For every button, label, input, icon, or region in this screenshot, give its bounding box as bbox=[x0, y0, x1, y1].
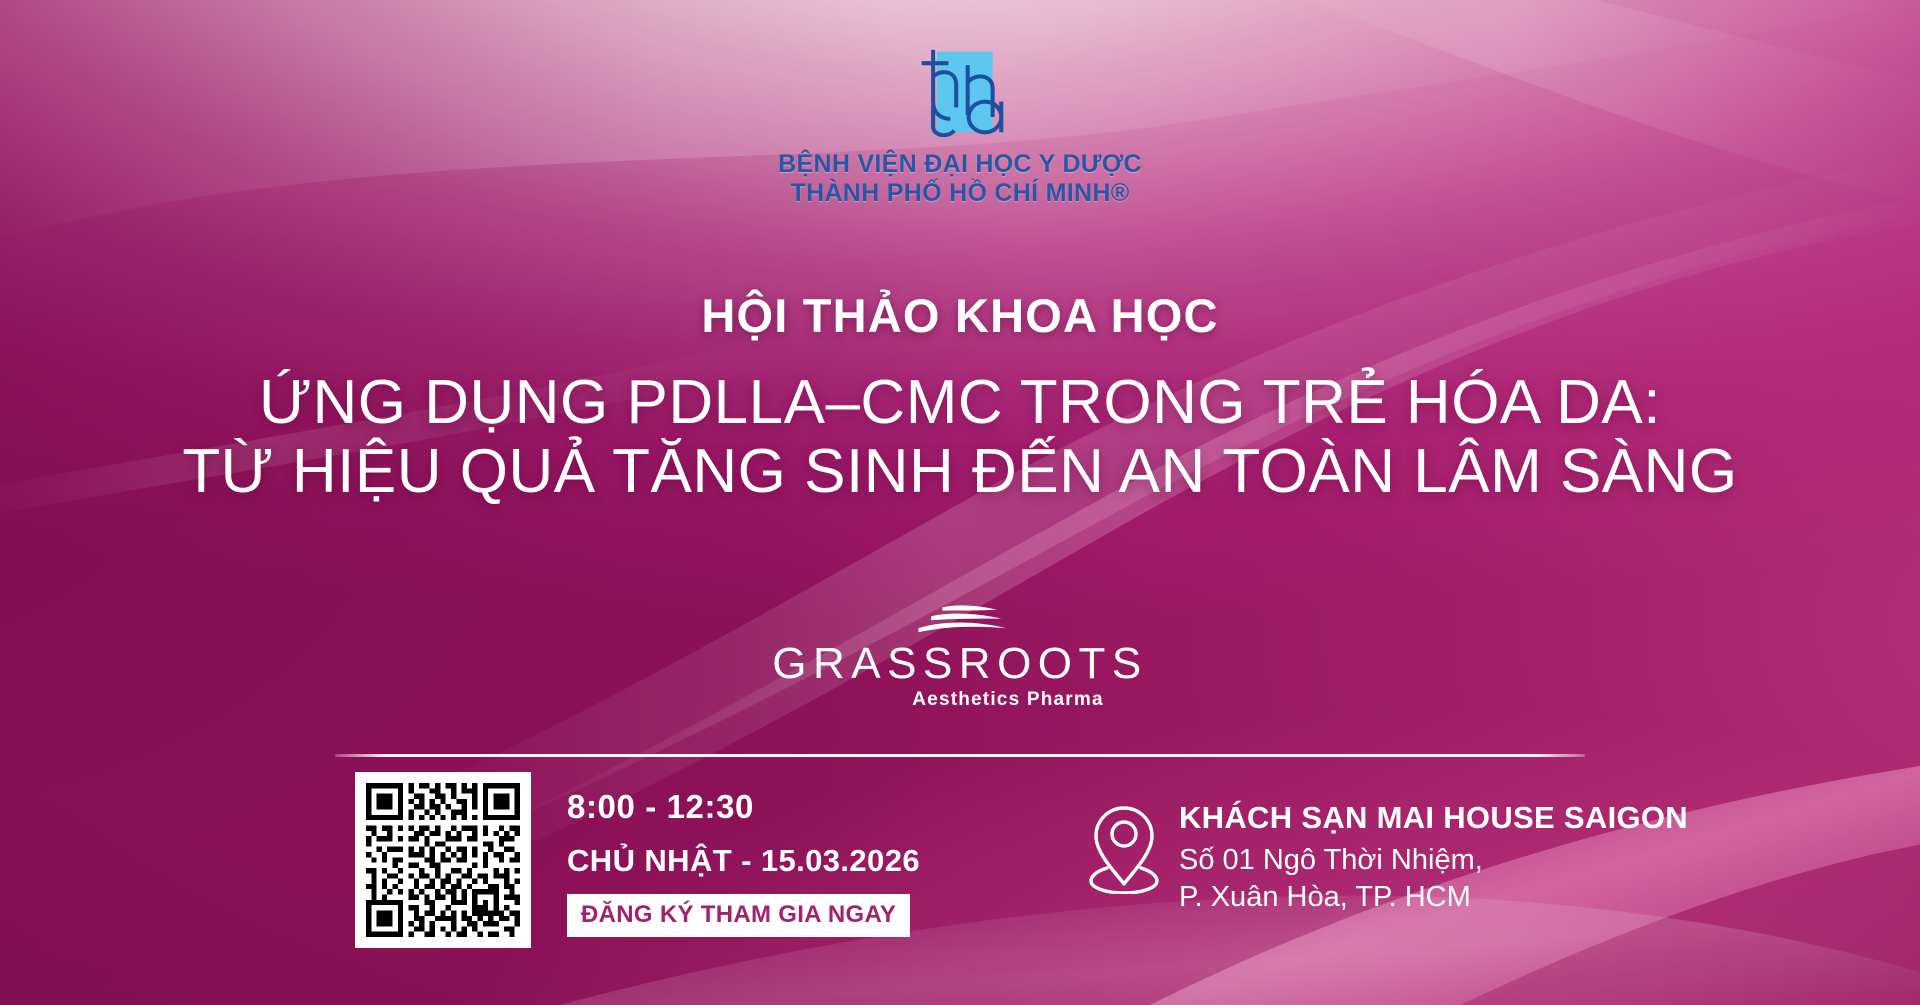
hospital-branding: BỆNH VIỆN ĐẠI HỌC Y DƯỢC THÀNH PHỐ HỒ CH… bbox=[0, 44, 1920, 208]
event-date: CHỦ NHẬT - 15.03.2026 bbox=[567, 845, 920, 876]
schedule-block: 8:00 - 12:30 CHỦ NHẬT - 15.03.2026 ĐĂNG … bbox=[567, 790, 920, 937]
event-poster: BỆNH VIỆN ĐẠI HỌC Y DƯỢC THÀNH PHỐ HỒ CH… bbox=[0, 0, 1920, 1005]
sponsor-logo: GRASSROOTS Aesthetics Pharma bbox=[0, 604, 1920, 711]
grassroots-swoosh-icon bbox=[912, 604, 1008, 638]
location-block: KHÁCH SẠN MAI HOUSE SAIGON Số 01 Ngô Thờ… bbox=[1087, 798, 1688, 916]
registration-qr-code[interactable] bbox=[355, 772, 531, 948]
venue-address-line-2: P. Xuân Hòa, TP. HCM bbox=[1179, 879, 1688, 916]
hospital-name: BỆNH VIỆN ĐẠI HỌC Y DƯỢC THÀNH PHỐ HỒ CH… bbox=[778, 150, 1142, 208]
section-divider bbox=[335, 754, 1585, 757]
sponsor-wordmark: GRASSROOTS bbox=[772, 642, 1148, 686]
event-kicker: HỘI THẢO KHOA HỌC bbox=[0, 288, 1920, 343]
poster-content: BỆNH VIỆN ĐẠI HỌC Y DƯỢC THÀNH PHỐ HỒ CH… bbox=[0, 0, 1920, 1005]
hospital-name-line-1: BỆNH VIỆN ĐẠI HỌC Y DƯỢC bbox=[778, 150, 1142, 179]
sponsor-tagline: Aesthetics Pharma bbox=[912, 689, 1103, 711]
event-title: ỨNG DỤNG PDLLA–CMC TRONG TRẺ HÓA DA: TỪ … bbox=[0, 368, 1920, 507]
venue-name: KHÁCH SẠN MAI HOUSE SAIGON bbox=[1179, 802, 1688, 833]
hospital-name-line-2: THÀNH PHỐ HỒ CHÍ MINH® bbox=[778, 179, 1142, 208]
location-text: KHÁCH SẠN MAI HOUSE SAIGON Số 01 Ngô Thờ… bbox=[1179, 798, 1688, 916]
event-time: 8:00 - 12:30 bbox=[567, 790, 920, 823]
register-button[interactable]: ĐĂNG KÝ THAM GIA NGAY bbox=[567, 894, 910, 937]
venue-address: Số 01 Ngô Thời Nhiệm, P. Xuân Hòa, TP. H… bbox=[1179, 842, 1688, 916]
poster-footer: 8:00 - 12:30 CHỦ NHẬT - 15.03.2026 ĐĂNG … bbox=[355, 780, 1860, 980]
map-pin-icon bbox=[1087, 802, 1161, 894]
bvdhyd-monogram-icon bbox=[912, 44, 1008, 140]
event-title-line-1: ỨNG DỤNG PDLLA–CMC TRONG TRẺ HÓA DA: bbox=[0, 368, 1920, 437]
qr-code-icon bbox=[366, 783, 520, 937]
venue-address-line-1: Số 01 Ngô Thời Nhiệm, bbox=[1179, 842, 1688, 879]
event-title-line-2: TỪ HIỆU QUẢ TĂNG SINH ĐẾN AN TOÀN LÂM SÀ… bbox=[0, 437, 1920, 506]
